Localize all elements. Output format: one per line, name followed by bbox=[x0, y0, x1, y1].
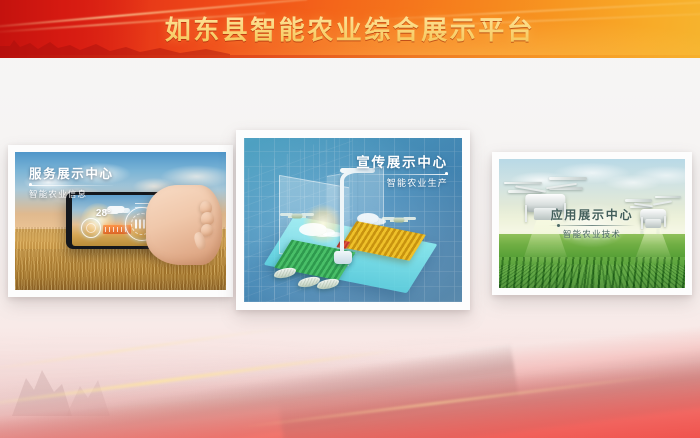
promotion-caption: 宣传展示中心 智能农业生产 bbox=[356, 156, 448, 188]
application-caption-rule bbox=[549, 225, 635, 226]
hud-reticle-small-icon bbox=[81, 218, 101, 238]
page-root: 如东县智能农业综合展示平台 28° bbox=[0, 0, 700, 438]
service-title: 服务展示中心 bbox=[29, 168, 114, 181]
panel-application-display-center[interactable]: 应用展示中心 智能农业技术 bbox=[492, 152, 692, 295]
isometric-drone-1-icon bbox=[285, 210, 309, 222]
panel-service-display-center[interactable]: 28° 服务展示中心 智能农业信息 bbox=[8, 145, 233, 297]
promotion-title: 宣传展示中心 bbox=[356, 156, 448, 170]
service-subtitle: 智能农业信息 bbox=[29, 190, 114, 199]
application-panel-image: 应用展示中心 智能农业技术 bbox=[499, 159, 685, 288]
service-caption-rule bbox=[29, 185, 113, 186]
promotion-panel-image: 宣传展示中心 智能农业生产 bbox=[244, 138, 462, 302]
application-title: 应用展示中心 bbox=[499, 209, 685, 221]
title-banner: 如东县智能农业综合展示平台 bbox=[0, 0, 700, 58]
isometric-drone-2-icon bbox=[384, 213, 414, 227]
temperature-readout: 28° bbox=[96, 208, 111, 219]
service-caption: 服务展示中心 智能农业信息 bbox=[29, 168, 114, 198]
background-light-streak-3 bbox=[0, 326, 293, 373]
isometric-cloud-1-icon bbox=[299, 223, 327, 236]
irrigation-arch-base bbox=[334, 251, 351, 264]
promotion-caption-rule bbox=[358, 174, 448, 175]
page-title: 如东县智能农业综合展示平台 bbox=[0, 0, 700, 58]
promotion-subtitle: 智能农业生产 bbox=[356, 179, 448, 188]
application-subtitle: 智能农业技术 bbox=[499, 230, 685, 239]
application-caption: 应用展示中心 智能农业技术 bbox=[499, 209, 685, 239]
hand-holding-phone bbox=[146, 185, 222, 265]
panel-promotion-display-center[interactable]: 宣传展示中心 智能农业生产 bbox=[236, 130, 470, 310]
service-panel-image: 28° 服务展示中心 智能农业信息 bbox=[15, 152, 226, 290]
finger-ring bbox=[201, 224, 213, 236]
irrigation-arch bbox=[340, 169, 357, 254]
